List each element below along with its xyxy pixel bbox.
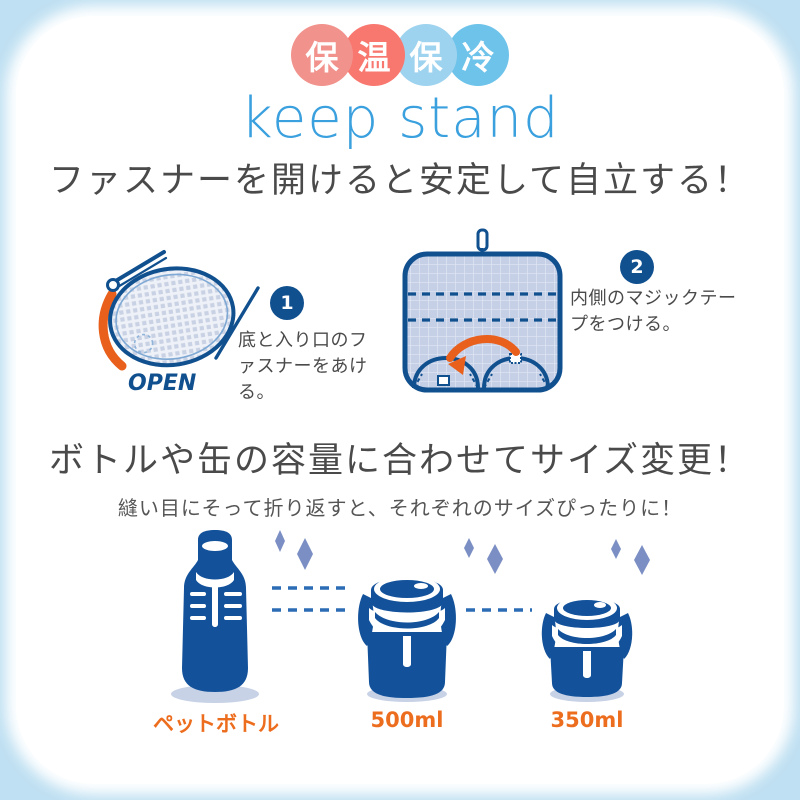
pouch-oval-open-illustration: OPEN bbox=[92, 238, 262, 398]
header-badge-group: 保 温 保 冷 bbox=[0, 22, 800, 88]
caption-pet-bottle: ペットボトル bbox=[140, 708, 292, 738]
bottle-500ml bbox=[345, 560, 470, 703]
step-2-text: 内側のマジックテープをつける。 bbox=[570, 286, 740, 338]
step-2-number-badge: 2 bbox=[620, 250, 654, 284]
section2-headline-text: ボトルや缶の容量に合わせてサイズ変更！ bbox=[49, 441, 751, 481]
section2-headline: ボトルや缶の容量に合わせてサイズ変更！ bbox=[43, 432, 757, 489]
pouch-flat-velcro-illustration bbox=[392, 228, 572, 403]
caption-350ml: 350ml bbox=[528, 708, 646, 732]
step-1-number-badge: 1 bbox=[270, 286, 304, 320]
section1-headline: ファスナーを開けると安定して自立する！ bbox=[43, 152, 757, 209]
badge-ho-warm: 保 bbox=[291, 24, 353, 86]
sparkle-group-1 bbox=[262, 524, 332, 584]
sparkle-group-3 bbox=[600, 533, 670, 588]
section2-subtitle: 縫い目にそって折り返すと、それぞれのサイズぴったりに！ bbox=[0, 492, 800, 521]
caption-500ml: 500ml bbox=[345, 708, 469, 732]
infographic-page: 保 温 保 冷 keep stand ファスナーを開けると安定して自立する！ bbox=[0, 0, 800, 800]
step-1-text: 底と入り口のファスナーをあける。 bbox=[238, 328, 368, 406]
bottle-pet bbox=[150, 528, 280, 703]
brand-title: keep stand bbox=[0, 86, 800, 151]
sparkle-group-2 bbox=[453, 532, 523, 587]
bottle-350ml bbox=[530, 583, 645, 703]
section1-headline-wrap: ファスナーを開けると安定して自立する！ bbox=[0, 152, 800, 209]
section2-headline-wrap: ボトルや缶の容量に合わせてサイズ変更！ bbox=[0, 432, 800, 489]
section1-headline-text: ファスナーを開けると安定して自立する！ bbox=[49, 161, 751, 201]
open-label: OPEN bbox=[128, 371, 196, 396]
